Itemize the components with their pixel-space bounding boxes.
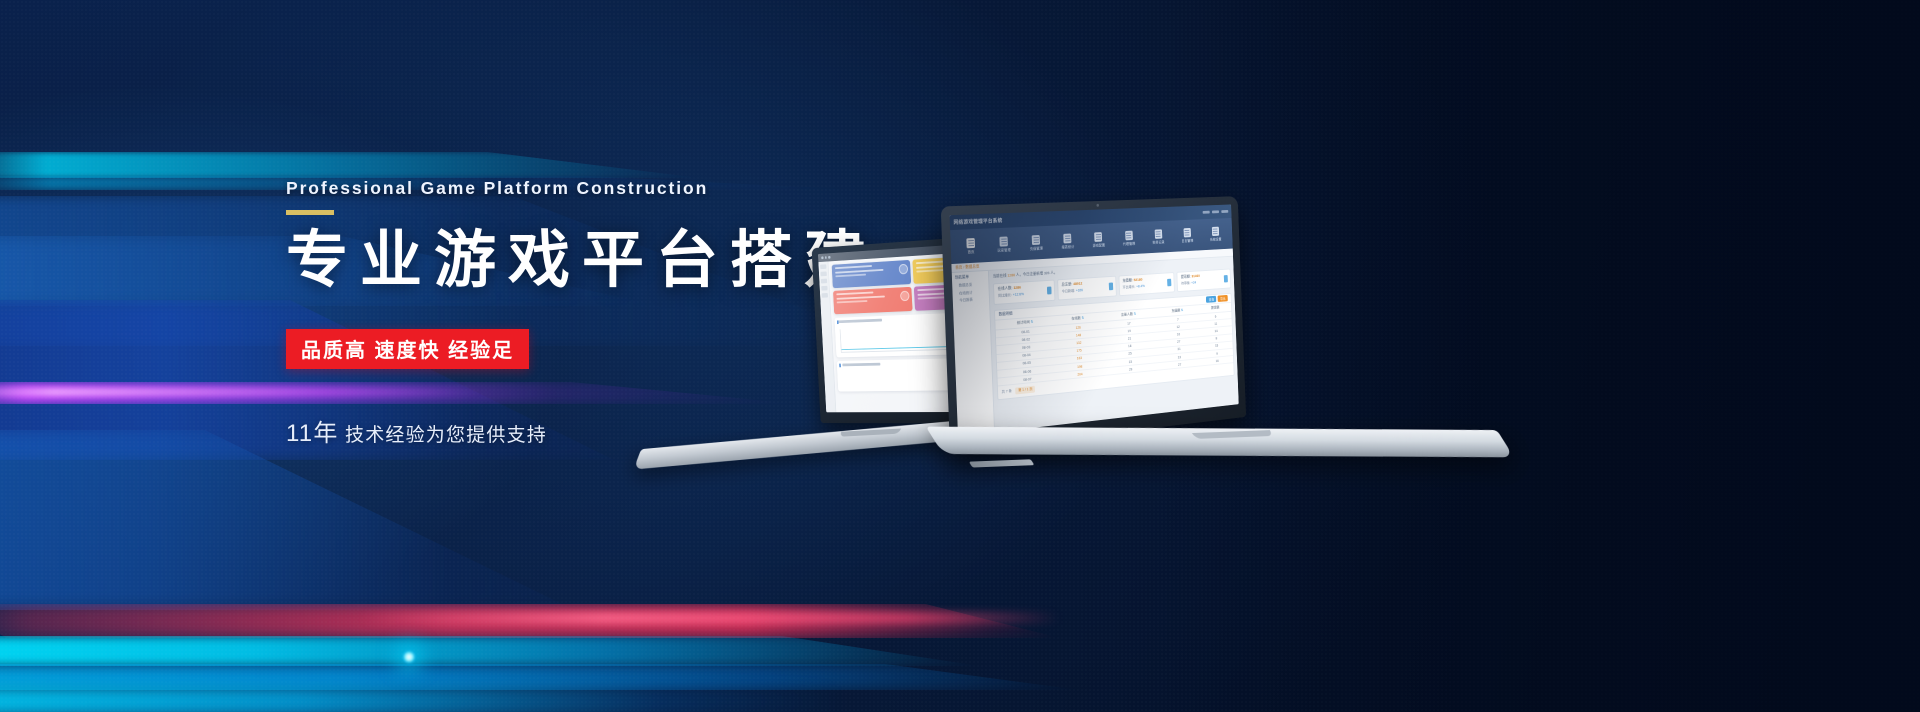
- laptop-front-screen: 网络游戏管理平台系统 首页玩家管理充值管理报表统计游戏配置代理管理财务记录日志管…: [950, 204, 1239, 436]
- stat-card-value: 52180: [1134, 278, 1143, 282]
- toolbar-item-settings[interactable]: 系统设置: [1202, 226, 1230, 243]
- light-streak-cyan-bottom-2: [0, 664, 1080, 690]
- bk-card-line: [836, 295, 884, 299]
- stat-card-secondary: 今日新增: +326: [1062, 286, 1113, 294]
- settings-icon: [1212, 226, 1219, 235]
- bk-card-line: [835, 274, 866, 278]
- stat-card-secondary: 待审核: +24: [1181, 279, 1228, 287]
- toolbar-item-label: 报表统计: [1053, 244, 1084, 250]
- gear-icon: [1095, 232, 1103, 242]
- stat-card-subvalue: +8.4%: [1136, 284, 1145, 288]
- bk-card-icon: [898, 264, 908, 275]
- light-streak-lower-plate: [0, 430, 680, 610]
- laptop-front: 网络游戏管理平台系统 首页玩家管理充值管理报表统计游戏配置代理管理财务记录日志管…: [935, 185, 1502, 492]
- user-chip: [1221, 210, 1228, 213]
- bk-sidebar-item[interactable]: [820, 271, 826, 276]
- bk-line-chart: [840, 325, 954, 352]
- stat-card-icon: [1047, 287, 1052, 295]
- home-icon: [966, 238, 975, 248]
- light-streak-red-core: [360, 612, 1060, 624]
- sort-caret-icon: ⇅: [1134, 312, 1137, 316]
- glow-dot: [402, 650, 416, 664]
- sort-caret-icon: ⇅: [1181, 308, 1184, 312]
- eyebrow-text: Professional Game Platform Construction: [286, 178, 906, 199]
- stat-card[interactable]: 在线人数: 1286同比增长: +12.6%: [993, 280, 1055, 305]
- stat-card-icon: [1224, 275, 1228, 282]
- bk-sidebar-item[interactable]: [820, 264, 826, 269]
- table-footer-label: 共 7 条: [1002, 389, 1012, 394]
- webcam-icon: [1096, 204, 1099, 207]
- data-table-panel: 数据明细 查询导出 统计时间 ⇅在线数 ⇅注册人数 ⇅充值额 ⇅提现额 08-0…: [994, 293, 1235, 401]
- app-body: 导航菜单 数据总览在线统计今日报表 当前在线 1286 人，今日注册新增 326…: [952, 257, 1239, 437]
- light-streak-cyan-bottom-3: [0, 686, 840, 712]
- user-icon: [1000, 236, 1009, 246]
- table-button-导出[interactable]: 导出: [1218, 295, 1228, 302]
- toolbar-item-home[interactable]: 首页: [954, 237, 987, 255]
- user-chip: [1212, 211, 1219, 214]
- toolbar-item-user[interactable]: 玩家管理: [988, 235, 1020, 253]
- bk-stat-card[interactable]: [833, 287, 912, 314]
- stat-card-value: 1286: [1013, 286, 1021, 290]
- toolbar-item-finance[interactable]: 财务记录: [1144, 228, 1173, 245]
- table-action-buttons: 查询导出: [1206, 295, 1228, 303]
- toolbar-item-report[interactable]: 报表统计: [1052, 233, 1083, 251]
- toolbar-item-label: 充值管理: [1021, 245, 1052, 251]
- bk-card-line: [837, 300, 868, 303]
- subline-years: 11年: [286, 420, 339, 447]
- stat-card-subvalue: +24: [1191, 281, 1196, 285]
- bk-sidebar-item[interactable]: [821, 279, 827, 284]
- toolbar-item-label: 系统设置: [1202, 237, 1229, 243]
- stat-card-value: 48912: [1073, 282, 1082, 286]
- stat-card-subvalue: +326: [1076, 288, 1083, 292]
- stat-card[interactable]: 提现额: 31460待审核: +24: [1177, 269, 1232, 293]
- sidebar-item[interactable]: 在线统计: [959, 289, 986, 296]
- sort-caret-icon: ⇅: [1031, 320, 1034, 324]
- gold-rule: [286, 210, 334, 215]
- app-sidebar: 导航菜单 数据总览在线统计今日报表: [952, 271, 995, 437]
- sidebar-item[interactable]: 今日报表: [959, 297, 986, 304]
- bk-panel-title: [842, 363, 880, 366]
- stat-card[interactable]: 充值额: 52180环比增长: +8.4%: [1118, 272, 1175, 296]
- sidebar-item-list: 数据总览在线统计今日报表: [955, 282, 986, 304]
- laptop-front-bezel: 网络游戏管理平台系统 首页玩家管理充值管理报表统计游戏配置代理管理财务记录日志管…: [941, 196, 1246, 452]
- log-icon: [1183, 228, 1190, 237]
- toolbar-item-coin[interactable]: 充值管理: [1020, 234, 1052, 252]
- light-streak-cyan-bottom-1: [0, 636, 980, 666]
- laptop-front-feet: [969, 459, 1035, 467]
- table-button-查询[interactable]: 查询: [1206, 296, 1216, 303]
- stat-card-icon: [1108, 283, 1112, 291]
- stat-card-value: 31460: [1191, 274, 1199, 278]
- stat-card-subvalue: +12.6%: [1013, 292, 1024, 297]
- user-info[interactable]: [1203, 210, 1229, 213]
- bk-card-line: [835, 265, 872, 269]
- bk-stat-card[interactable]: [832, 260, 911, 288]
- toolbar-item-label: 首页: [955, 249, 988, 256]
- report-icon: [1064, 233, 1072, 243]
- finance-icon: [1154, 229, 1162, 239]
- stat-card[interactable]: 总注册: 48912今日新增: +326: [1057, 276, 1116, 301]
- bk-dot-icon: [828, 256, 830, 258]
- toolbar-item-label: 玩家管理: [988, 247, 1020, 254]
- sidebar-heading: 导航菜单: [955, 274, 986, 281]
- bk-panel-title: [837, 319, 882, 323]
- bk-sidebar-item[interactable]: [822, 293, 828, 298]
- sidebar-item[interactable]: 数据总览: [959, 282, 986, 289]
- bk-card-line: [836, 292, 873, 296]
- table-panel-title: 数据明细: [999, 312, 1013, 318]
- coin-icon: [1032, 234, 1040, 244]
- notice-count: 1286: [1007, 273, 1015, 277]
- status-badge: 品质高 速度快 经验足: [286, 329, 529, 369]
- agent-icon: [1125, 230, 1133, 240]
- app-title: 网络游戏管理平台系统: [953, 217, 1002, 226]
- toolbar-item-label: 财务记录: [1144, 239, 1173, 245]
- stat-card-icon: [1167, 279, 1171, 287]
- light-streak-cyan-top: [0, 152, 700, 178]
- toolbar-item-label: 游戏配置: [1084, 242, 1114, 248]
- bk-sidebar-item[interactable]: [821, 286, 827, 291]
- user-chip: [1203, 211, 1210, 214]
- notice-suffix: 人，今日注册新增 326 人。: [1016, 271, 1057, 277]
- toolbar-item-agent[interactable]: 代理管理: [1114, 230, 1144, 247]
- toolbar-item-label: 日志管理: [1173, 238, 1201, 244]
- sort-caret-icon: ⇅: [1082, 316, 1085, 320]
- light-streak-red: [0, 604, 1060, 638]
- bk-dot-icon: [825, 256, 827, 258]
- bk-card-icon: [900, 291, 910, 302]
- bk-dot-icon: [821, 257, 823, 259]
- toolbar-item-gear[interactable]: 游戏配置: [1083, 231, 1113, 249]
- breadcrumb-text: 首页 / 数据总览: [955, 264, 979, 270]
- notice-prefix: 当前在线: [993, 274, 1007, 279]
- table-footer-pagination[interactable]: 第 1 / 1 页: [1015, 386, 1035, 395]
- app-main: 当前在线 1286 人，今日注册新增 326 人。 在线人数: 1286同比增长…: [989, 257, 1239, 433]
- subline-text: 技术经验为您提供支持: [339, 425, 547, 446]
- toolbar-item-log[interactable]: 日志管理: [1173, 227, 1201, 244]
- bk-card-line: [835, 268, 883, 273]
- banner-root: Professional Game Platform Construction …: [0, 0, 1920, 712]
- toolbar-item-label: 代理管理: [1114, 241, 1143, 247]
- stat-card-secondary: 同比增长: +12.6%: [998, 290, 1051, 298]
- stat-card-secondary: 环比增长: +8.4%: [1123, 282, 1172, 290]
